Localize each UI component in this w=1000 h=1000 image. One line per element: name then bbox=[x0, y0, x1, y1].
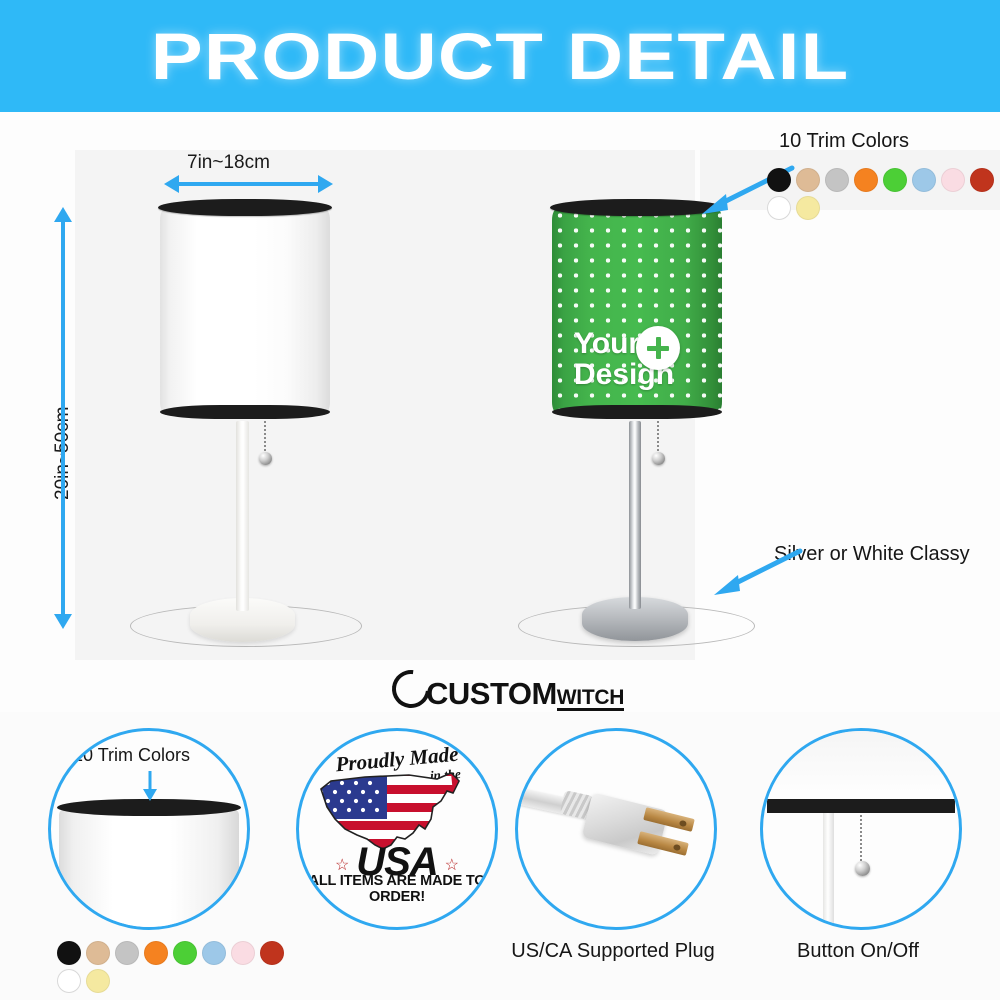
trim-swatch-orange[interactable] bbox=[144, 941, 168, 965]
brand-logo: CUSTOM WITCH bbox=[392, 666, 624, 712]
trim-swatch-white[interactable] bbox=[767, 196, 791, 220]
button-circle-chain-ball[interactable] bbox=[855, 861, 870, 876]
trim-circle-shade bbox=[59, 809, 239, 929]
usa-star-right: ☆ bbox=[445, 855, 459, 875]
white-lamp-trim-bottom bbox=[160, 405, 330, 419]
trim-swatch-tan[interactable] bbox=[86, 941, 110, 965]
trim-swatch-green[interactable] bbox=[883, 168, 907, 192]
plug-caption: US/CA Supported Plug bbox=[505, 940, 721, 963]
button-circle-shade bbox=[763, 731, 959, 801]
trim-swatch-gray[interactable] bbox=[115, 941, 139, 965]
trim-swatch-red[interactable] bbox=[260, 941, 284, 965]
button-circle-trim bbox=[767, 799, 955, 813]
silver-white-pointer-arrow bbox=[700, 545, 810, 600]
trim-swatch-pink[interactable] bbox=[231, 941, 255, 965]
trim-swatch-green[interactable] bbox=[173, 941, 197, 965]
trim-swatch-black[interactable] bbox=[767, 168, 791, 192]
made-in-usa-badge: Proudly Made in the bbox=[296, 728, 498, 930]
usa-line4: ALL ITEMS ARE MADE TO ORDER! bbox=[299, 873, 495, 905]
trim-color-swatches-bottom[interactable] bbox=[54, 941, 286, 997]
button-detail-circle bbox=[760, 728, 962, 930]
trim-colors-heading: 10 Trim Colors bbox=[779, 130, 909, 153]
white-lamp-shade bbox=[160, 198, 330, 420]
green-lamp-pull-chain[interactable] bbox=[657, 421, 659, 456]
logo-secondary: WITCH bbox=[557, 688, 624, 711]
your-design-line2: Design bbox=[552, 359, 574, 391]
white-lamp-trim-top bbox=[158, 199, 332, 216]
button-circle-chain[interactable] bbox=[860, 815, 862, 865]
page-banner: PRODUCT DETAIL bbox=[0, 0, 1000, 112]
trim-circle-down-arrow bbox=[139, 769, 161, 803]
trim-swatch-yellow[interactable] bbox=[86, 969, 110, 993]
green-lamp-stem bbox=[629, 421, 641, 609]
page-title: PRODUCT DETAIL bbox=[151, 18, 850, 94]
trim-swatch-orange[interactable] bbox=[854, 168, 878, 192]
width-dimension-label: 7in~18cm bbox=[187, 152, 270, 174]
trim-swatch-tan[interactable] bbox=[796, 168, 820, 192]
trim-swatch-yellow[interactable] bbox=[796, 196, 820, 220]
trim-swatch-light-blue[interactable] bbox=[912, 168, 936, 192]
plus-circle-icon[interactable] bbox=[636, 326, 680, 370]
trim-swatch-pink[interactable] bbox=[941, 168, 965, 192]
trim-swatch-black[interactable] bbox=[57, 941, 81, 965]
product-detail-page: PRODUCT DETAIL 7in~18cm 20in~50cm bbox=[0, 0, 1000, 1000]
trim-swatch-gray[interactable] bbox=[825, 168, 849, 192]
trim-swatch-light-blue[interactable] bbox=[202, 941, 226, 965]
button-circle-stem bbox=[823, 813, 834, 927]
trim-swatch-white[interactable] bbox=[57, 969, 81, 993]
button-caption: Button On/Off bbox=[750, 940, 966, 963]
plug-detail-circle bbox=[515, 728, 717, 930]
green-lamp-trim-bottom bbox=[552, 405, 722, 419]
your-design-line1: Your bbox=[552, 328, 574, 360]
trim-swatch-red[interactable] bbox=[970, 168, 994, 192]
white-lamp-chain-ball[interactable] bbox=[259, 452, 272, 465]
white-lamp-stem bbox=[236, 421, 249, 611]
trim-color-swatches-top[interactable] bbox=[764, 168, 996, 224]
logo-primary: CUSTOM bbox=[426, 676, 557, 712]
trim-colors-detail-circle: 10 Trim Colors bbox=[48, 728, 250, 930]
white-lamp-pull-chain[interactable] bbox=[264, 421, 266, 456]
green-lamp-chain-ball[interactable] bbox=[652, 452, 665, 465]
trim-circle-label: 10 Trim Colors bbox=[73, 745, 190, 766]
